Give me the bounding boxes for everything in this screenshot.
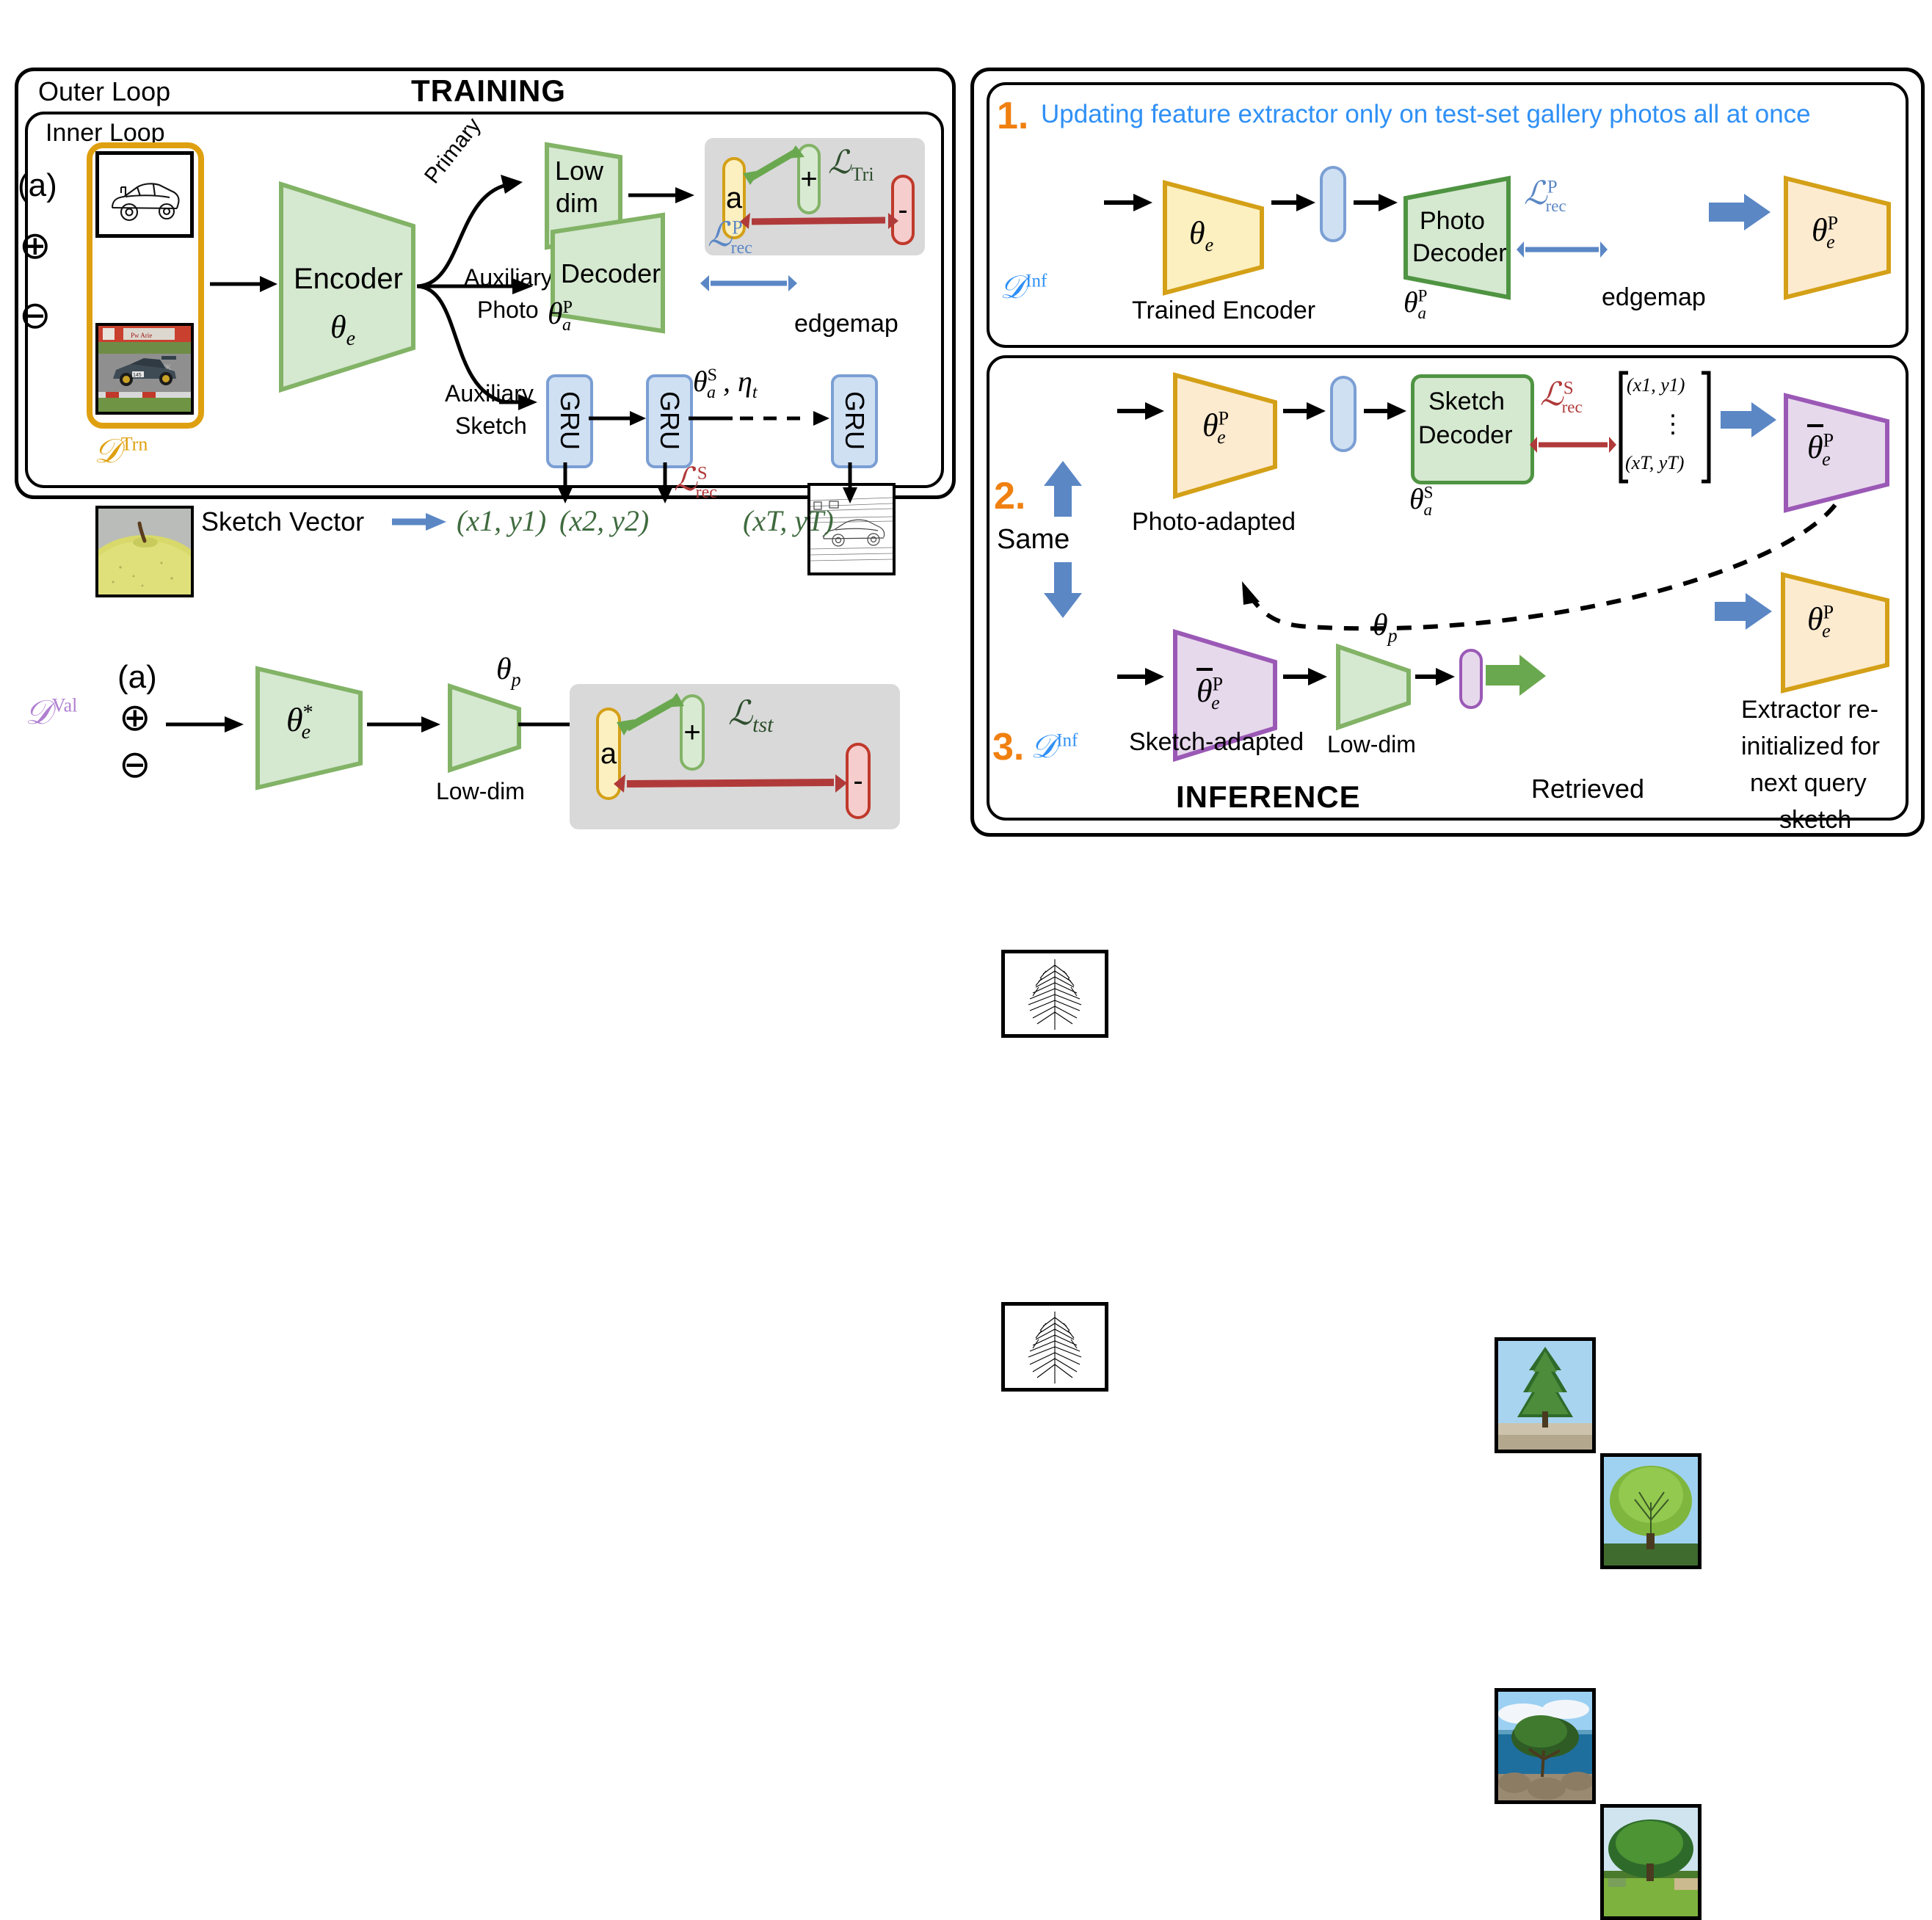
arrow-step3-sketch-to-encoder <box>1117 666 1166 687</box>
step1-decoder-param: θPa <box>1403 285 1426 323</box>
validation-positive-icon: ⊕ <box>119 696 151 740</box>
step1-output-thick-arrow <box>1709 194 1772 236</box>
arrow-step2-latent-to-decoder <box>1364 401 1408 421</box>
step2-query-sketch <box>1001 950 1108 1038</box>
validation-positive-arrow <box>615 691 689 738</box>
validation-lowdim-shape <box>446 683 523 774</box>
step3-retrieval-thick-arrow <box>1486 653 1547 699</box>
step3-lowdim-param: θp <box>1373 608 1398 647</box>
training-dataset-base: 𝒟 <box>94 432 121 470</box>
arrow-step2-encoder-to-latent <box>1283 401 1327 421</box>
positive-marker-icon: ⊕ <box>19 224 51 268</box>
step2-encoder-param: θPe <box>1202 407 1226 448</box>
validation-dataset-sup: Val <box>52 695 78 716</box>
validation-negative-icon: ⊖ <box>119 743 151 787</box>
validation-lowdim-caption: Low-dim <box>436 778 525 805</box>
decoder-param-label: θPa <box>548 297 571 335</box>
step3-output-param: θPe <box>1807 600 1831 642</box>
encoder-label: Encoder <box>294 263 403 296</box>
step2-output-thick-arrow <box>1721 402 1778 443</box>
step3-lowdim-caption: Low-dim <box>1327 731 1416 758</box>
training-dataset-sup: Trn <box>121 434 148 455</box>
step3-lowdim-shape <box>1334 643 1412 731</box>
step1-dataset-label: 𝒟Inf <box>1000 269 1047 306</box>
validation-negative-pill: - <box>846 743 871 819</box>
arrow-input-to-encoder <box>208 273 279 295</box>
arrow-step1-latent-to-decoder <box>1354 192 1399 213</box>
step2-same-up-arrow <box>1042 461 1083 518</box>
validation-loss-label: ℒtst <box>728 693 774 738</box>
step3-dataset-sup: Inf <box>1056 730 1078 750</box>
validation-negative-arrow <box>612 771 849 796</box>
step2-same-label: Same <box>997 524 1069 556</box>
edgemap-caption: edgemap <box>794 310 898 338</box>
validation-dataset-label: 𝒟Val <box>25 693 77 733</box>
step1-output-shape <box>1782 175 1892 301</box>
step2-loss-label: ℒSrec <box>1540 376 1583 417</box>
triplet-negative-arrow <box>738 210 900 233</box>
gru-cell-1: GRU <box>546 374 593 468</box>
gru-params-label: θSa , ηt <box>693 364 758 403</box>
anchor-marker-label: (a) <box>18 167 57 204</box>
step3-query-sketch <box>1001 1302 1108 1392</box>
aux-sketch-label-line1: Auxiliary <box>445 380 534 407</box>
retrieved-photo-4 <box>1600 1804 1702 1920</box>
triplet-positive-arrow <box>741 144 807 188</box>
photo-recon-doublearrow <box>699 273 799 294</box>
step1-decoder-line2: Decoder <box>1412 239 1507 268</box>
retrieved-caption: Retrieved <box>1531 774 1644 804</box>
step3-output-caption-line4: sketch <box>1779 806 1851 834</box>
step2-output-param: θPe <box>1807 424 1831 470</box>
step3-encoder-caption: Sketch-adapted <box>1129 728 1304 757</box>
step1-loss-doublearrow <box>1515 239 1609 260</box>
svg-text:145: 145 <box>133 373 142 378</box>
step1-dataset-sup: Inf <box>1025 271 1047 291</box>
decoder-label: Decoder <box>561 258 661 289</box>
step3-encoder-param: θPe <box>1196 668 1220 714</box>
step1-encoder-param: θe <box>1189 214 1213 256</box>
step1-decoder-line1: Photo <box>1420 207 1485 236</box>
arrow-step3-lowdim-to-embedding <box>1415 666 1456 687</box>
arrow-step1-photo-to-encoder <box>1104 192 1154 213</box>
retrieved-photo-1 <box>1495 1337 1596 1453</box>
retrieved-photo-2 <box>1600 1453 1702 1569</box>
outer-loop-label: Outer Loop <box>38 76 170 107</box>
photo-recon-loss-label: ℒPrec <box>708 214 752 258</box>
step3-number: 3. <box>992 725 1024 769</box>
aux-sketch-label-line2: Sketch <box>455 412 527 440</box>
step1-decoder-shape <box>1402 175 1512 301</box>
triplet-loss-label: ℒTri <box>828 144 874 186</box>
inference-title: INFERENCE <box>1176 779 1361 815</box>
validation-dataset-base: 𝒟 <box>25 694 52 731</box>
gru-cell-T-label: GRU <box>839 382 870 459</box>
gru-chain-arrows <box>589 408 835 430</box>
step3-embedding-vector <box>1459 649 1483 709</box>
aux-photo-label-line1: Auxiliary <box>464 264 553 291</box>
retrieved-photo-3 <box>1495 1688 1596 1804</box>
aux-photo-label-line2: Photo <box>477 297 539 324</box>
arrow-step2-sketch-to-encoder <box>1117 401 1166 421</box>
step2-decoder-line1: Sketch <box>1428 388 1505 416</box>
step2-latent-vector <box>1330 376 1357 452</box>
step1-number: 1. <box>997 94 1028 138</box>
input-sketch-thumbnail <box>95 151 194 238</box>
step3-output-shape <box>1779 571 1891 694</box>
input-positive-photo: Pw Arie LUK 145 <box>95 323 194 415</box>
validation-lowdim-param: θp <box>496 652 521 691</box>
training-dataset-label: 𝒟Trn <box>94 432 148 472</box>
step2-decoder-line2: Decoder <box>1418 421 1513 450</box>
lowdim-label-line1: Low <box>555 156 603 186</box>
step3-dataset-base: 𝒟 <box>1031 729 1056 765</box>
step1-edgemap-caption: edgemap <box>1602 283 1706 312</box>
step3-output-caption-line2: initialized for <box>1741 732 1880 761</box>
step2-coord-last: (xT, yT) <box>1625 452 1684 474</box>
gru-cell-1-label: GRU <box>554 382 585 459</box>
step1-loss-label: ℒPrec <box>1524 175 1566 216</box>
training-title: TRAINING <box>411 73 566 109</box>
step2-coordinate-matrix: (x1, y1) ⋮ (xT, yT) <box>1619 370 1710 484</box>
encoder-param-label: θe <box>330 308 355 351</box>
arrow-val-input-to-encoder <box>166 713 247 735</box>
step2-coord-dots: ⋮ <box>1660 410 1685 439</box>
step3-output-thick-arrow <box>1715 593 1773 634</box>
validation-encoder-param: θ*e <box>286 700 310 744</box>
step1-output-param: θPe <box>1812 211 1835 253</box>
step3-output-caption-line1: Extractor re- <box>1741 696 1878 724</box>
arrow-val-encoder-to-lowdim <box>367 713 443 735</box>
svg-text:Pw Arie: Pw Arie <box>131 332 152 339</box>
step2-loss-doublearrow <box>1528 434 1618 455</box>
step2-output-shape <box>1782 392 1891 514</box>
step1-latent-vector <box>1320 166 1346 242</box>
validation-anchor-label: (a) <box>117 659 157 696</box>
step1-dataset-base: 𝒟 <box>1000 269 1025 305</box>
gru-cell-T: GRU <box>831 374 878 468</box>
step1-encoder-caption: Trained Encoder <box>1132 297 1315 325</box>
step2-coord-first: (x1, y1) <box>1627 374 1685 396</box>
step1-headline: Updating feature extractor only on test-… <box>1041 100 1811 129</box>
step3-same-down-arrow <box>1042 562 1083 619</box>
negative-marker-icon: ⊖ <box>19 294 51 338</box>
step3-output-caption-line3: next query <box>1750 769 1867 798</box>
arrow-lowdim-to-triplet <box>628 185 696 206</box>
step3-dataset-label: 𝒟Inf <box>1031 728 1078 766</box>
step2-number: 2. <box>994 474 1025 518</box>
sketch-recon-loss-label: ℒSrec <box>674 461 717 503</box>
arrow-step1-encoder-to-latent <box>1271 192 1317 213</box>
arrow-step3-encoder-to-lowdim <box>1283 666 1329 687</box>
